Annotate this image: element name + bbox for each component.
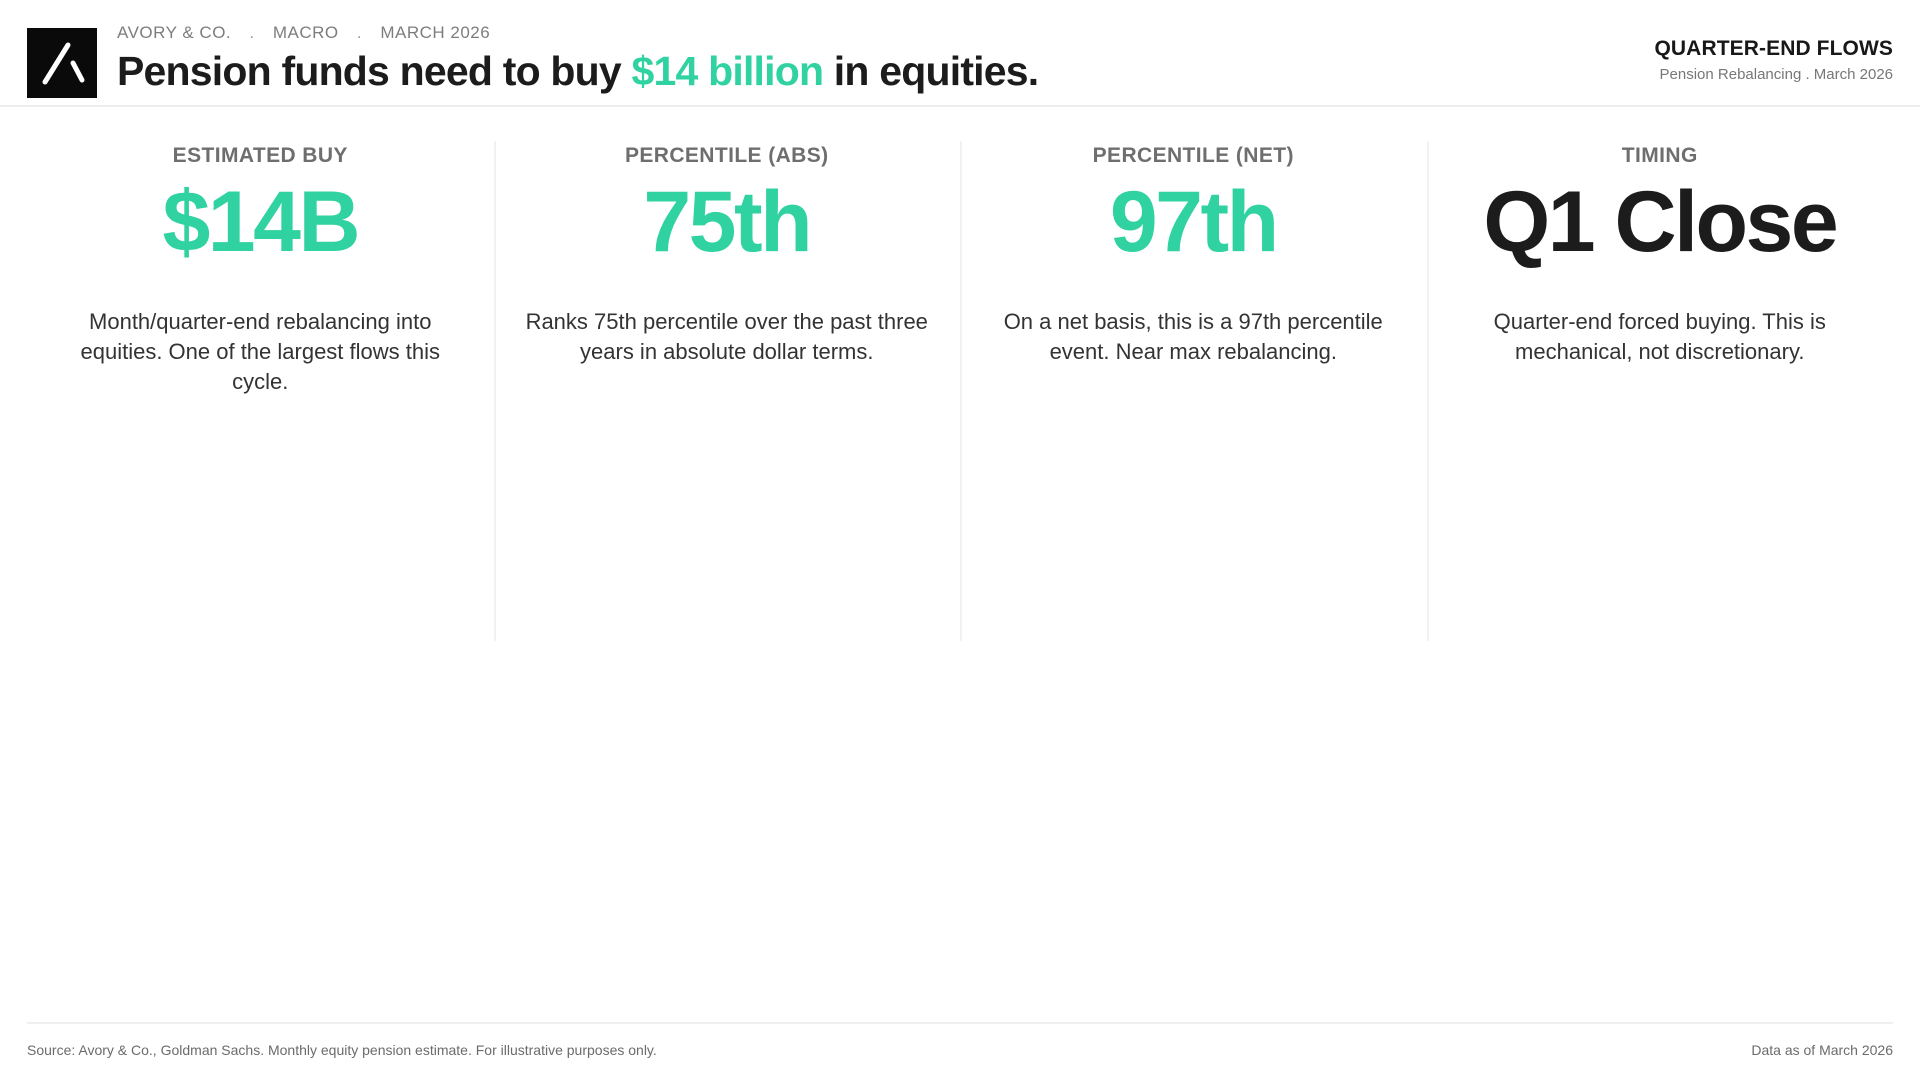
stat-description: Ranks 75th percentile over the past thre… (518, 307, 937, 367)
headline-before: Pension funds need to buy (117, 48, 632, 94)
data-asof-note: Data as of March 2026 (1751, 1042, 1893, 1059)
content-spacer (0, 647, 1920, 1022)
avory-lambda-logo-icon (27, 28, 97, 98)
stat-label: PERCENTILE (NET) (984, 143, 1403, 168)
kicker-date: MARCH 2026 (380, 23, 490, 42)
stat-description: On a net basis, this is a 97th percentil… (984, 307, 1403, 367)
stat-description: Month/quarter-end rebalancing into equit… (51, 307, 470, 397)
kicker-brand: AVORY & CO. (117, 23, 231, 42)
source-note: Source: Avory & Co., Goldman Sachs. Mont… (27, 1042, 657, 1059)
kicker-category: MACRO (273, 23, 339, 42)
report-subtitle: Pension Rebalancing . March 2026 (1654, 66, 1893, 84)
header-left-group: AVORY & CO. . MACRO . MARCH 2026 Pension… (27, 24, 1038, 98)
stat-value: 97th (984, 176, 1403, 269)
stat-card-timing: TIMING Q1 Close Quarter-end forced buyin… (1427, 135, 1894, 647)
page-footer: Source: Avory & Co., Goldman Sachs. Mont… (27, 1022, 1893, 1080)
stat-card-estimated-buy: ESTIMATED BUY $14B Month/quarter-end reb… (27, 135, 494, 647)
breadcrumb: AVORY & CO. . MACRO . MARCH 2026 (117, 24, 1038, 43)
stat-value: 75th (518, 176, 937, 269)
kicker-separator-2: . (344, 24, 375, 43)
header-text-block: AVORY & CO. . MACRO . MARCH 2026 Pension… (117, 24, 1038, 93)
stat-card-percentile-net: PERCENTILE (NET) 97th On a net basis, th… (960, 135, 1427, 647)
stat-value: $14B (51, 176, 470, 269)
headline-accent: $14 billion (632, 48, 824, 94)
stat-grid: ESTIMATED BUY $14B Month/quarter-end reb… (0, 107, 1920, 647)
stat-label: PERCENTILE (ABS) (518, 143, 937, 168)
slide-root: AVORY & CO. . MACRO . MARCH 2026 Pension… (0, 0, 1920, 1080)
stat-label: ESTIMATED BUY (51, 143, 470, 168)
header-right-group: QUARTER-END FLOWS Pension Rebalancing . … (1654, 24, 1893, 84)
headline-after: in equities. (823, 48, 1038, 94)
stat-card-percentile-abs: PERCENTILE (ABS) 75th Ranks 75th percent… (494, 135, 961, 647)
kicker-separator-1: . (236, 24, 267, 43)
page-title: Pension funds need to buy $14 billion in… (117, 50, 1038, 93)
report-title: QUARTER-END FLOWS (1654, 36, 1893, 61)
stat-description: Quarter-end forced buying. This is mecha… (1451, 307, 1870, 367)
stat-label: TIMING (1451, 143, 1870, 168)
stat-value: Q1 Close (1451, 176, 1870, 269)
page-header: AVORY & CO. . MACRO . MARCH 2026 Pension… (0, 0, 1920, 107)
